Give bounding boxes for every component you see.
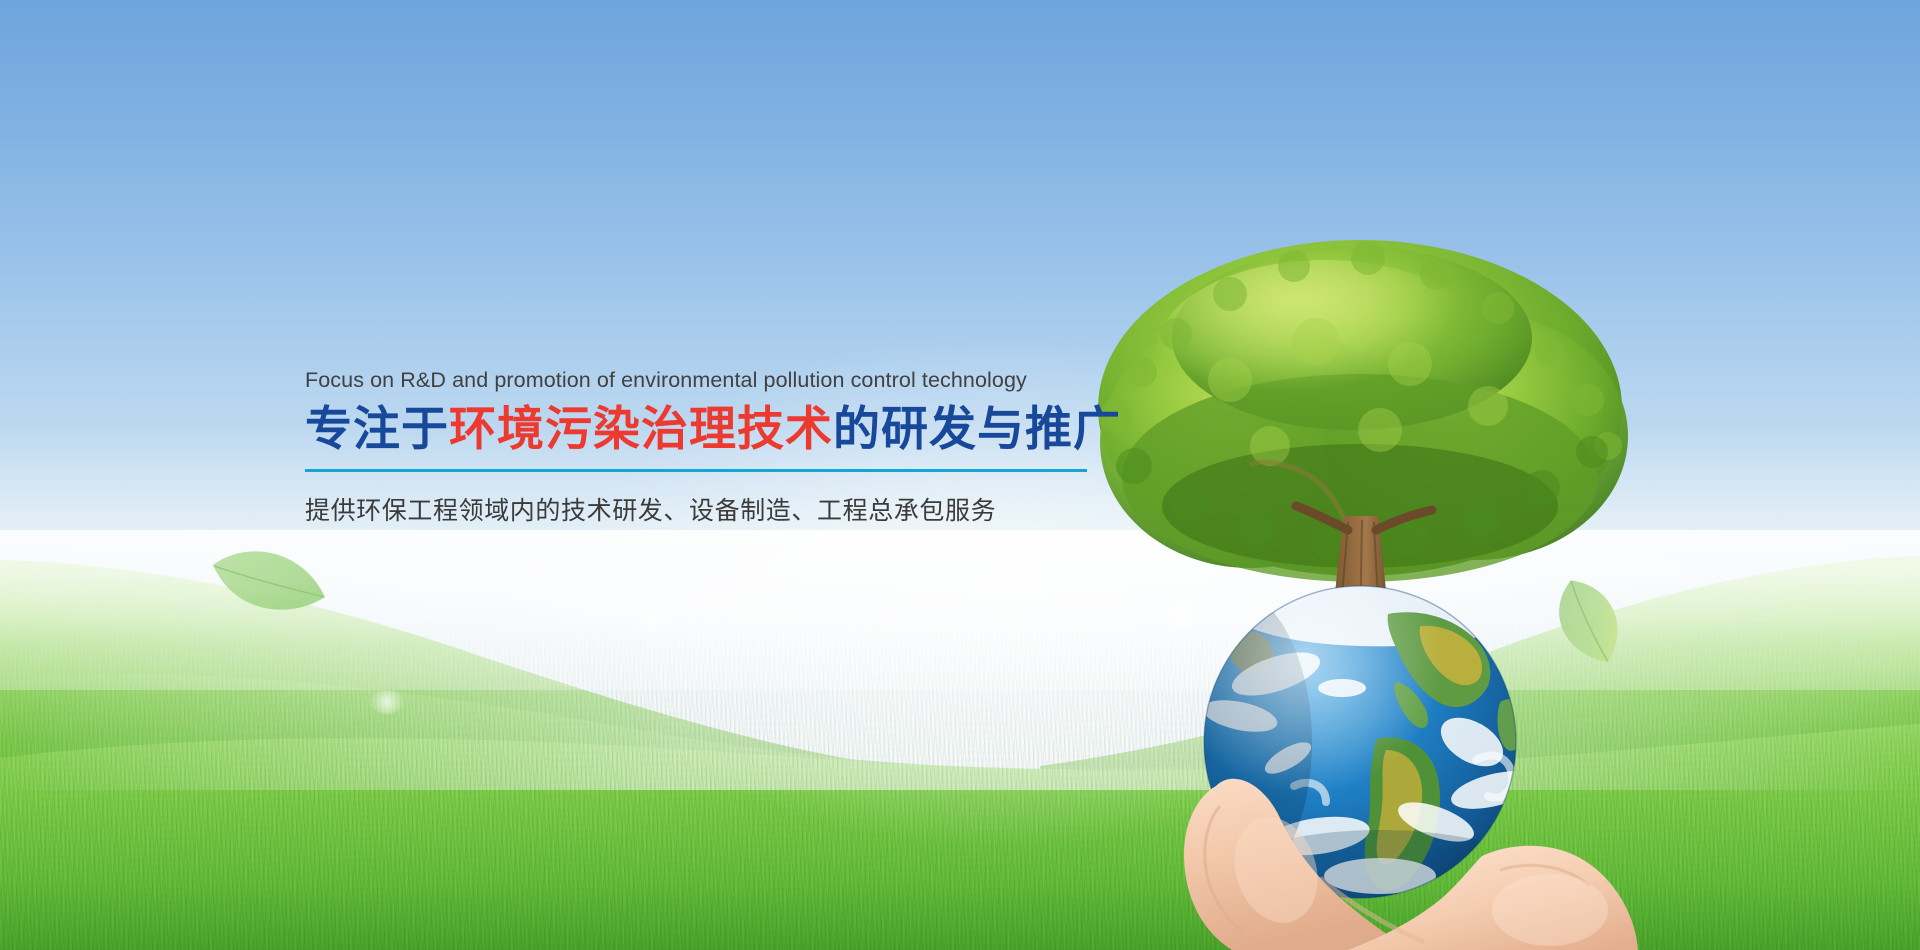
headline-part-2-highlight: 环境污染治理技术 [449,402,833,457]
page-title: 专注于环境污染治理技术的研发与推广 [305,402,1105,457]
tagline-english: Focus on R&D and promotion of environmen… [305,368,1105,393]
headline-divider [305,469,1087,472]
headline-part-3: 的研发与推广 [833,402,1121,457]
tree-globe-hands-illustration [1080,230,1640,950]
hero-banner: Focus on R&D and promotion of environmen… [0,0,1920,950]
banner-copy: Focus on R&D and promotion of environmen… [305,368,1105,527]
headline-part-1: 专注于 [305,402,449,457]
subtitle-text: 提供环保工程领域内的技术研发、设备制造、工程总承包服务 [305,491,1105,527]
